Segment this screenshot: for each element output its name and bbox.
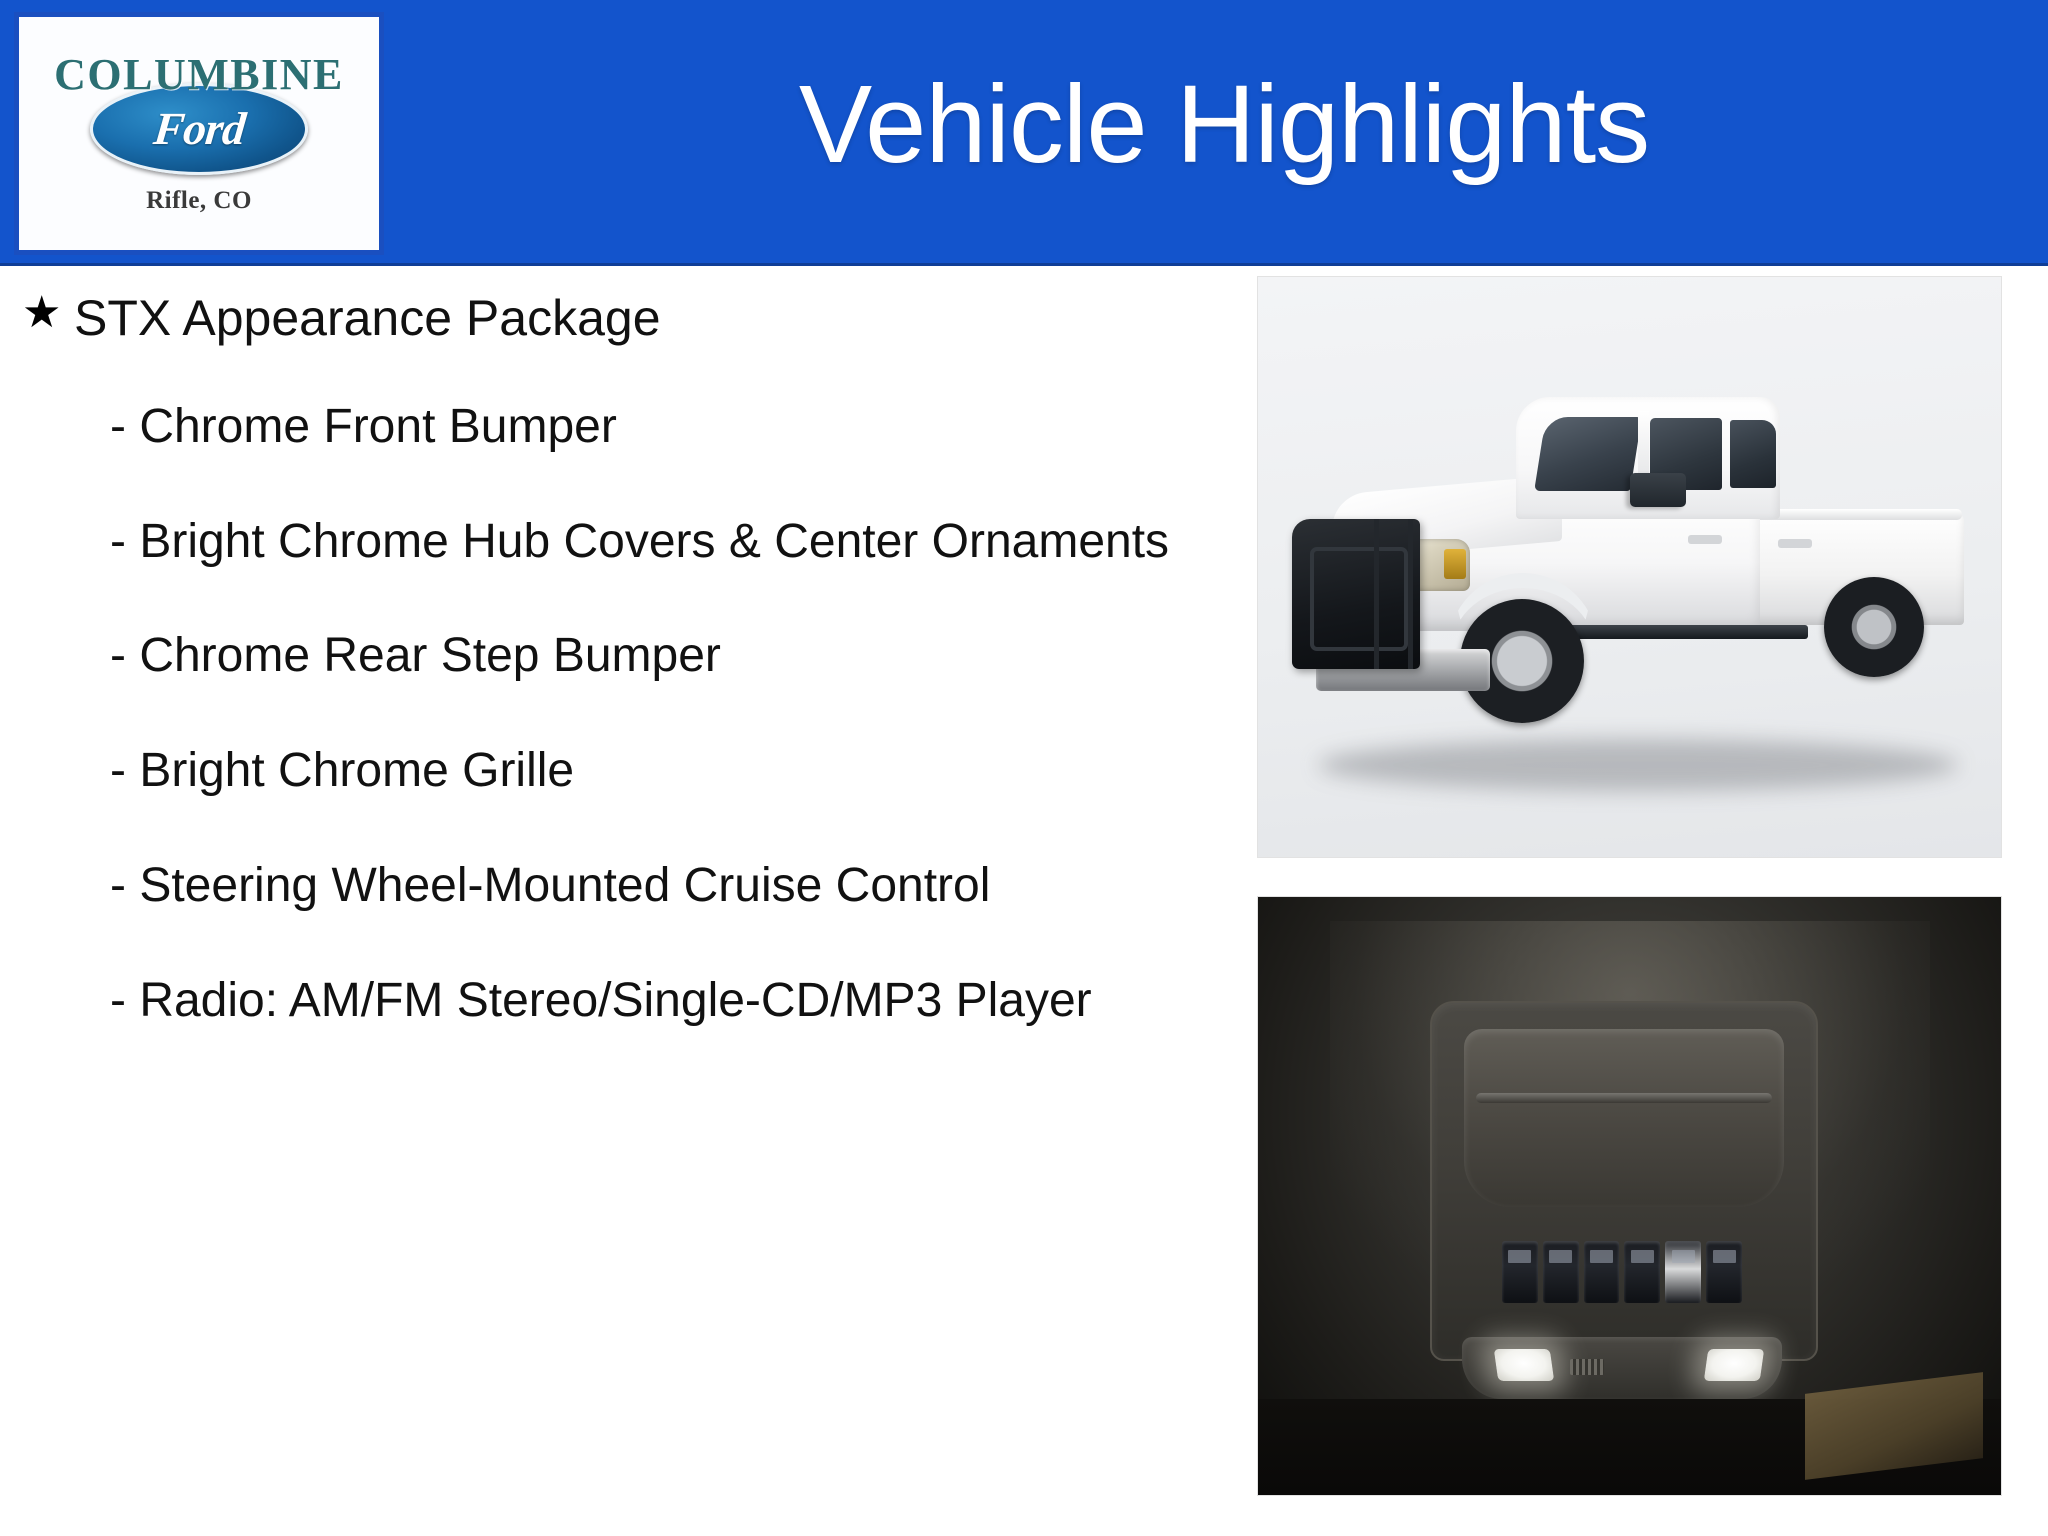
- list-item: - Chrome Rear Step Bumper: [110, 629, 1200, 684]
- truck-illustration: [1258, 277, 2001, 857]
- page-title: Vehicle Highlights: [400, 0, 2048, 263]
- ford-wordmark: Ford: [151, 102, 247, 155]
- dealer-name-text: COLUMBINE: [54, 53, 344, 97]
- aux-switch-bank: [1502, 1241, 1742, 1303]
- list-item: - Radio: AM/FM Stereo/Single-CD/MP3 Play…: [110, 974, 1200, 1029]
- console-illustration: [1258, 897, 2001, 1495]
- list-item: - Bright Chrome Hub Covers & Center Orna…: [110, 515, 1200, 570]
- list-item: - Bright Chrome Grille: [110, 744, 1200, 799]
- dome-light-left: [1494, 1349, 1554, 1381]
- list-item-main: ★ STX Appearance Package: [22, 290, 1205, 346]
- overhead-console-photo: [1257, 896, 2002, 1496]
- photo-column: [1245, 266, 2048, 1536]
- slide-body: ★ STX Appearance Package - Chrome Front …: [0, 266, 2048, 1536]
- main-bullet-label: STX Appearance Package: [74, 290, 1205, 346]
- sub-highlights-list: - Chrome Front Bumper - Bright Chrome Hu…: [22, 400, 1205, 1028]
- header-banner: COLUMBINE Ford Rifle, CO Vehicle Highlig…: [0, 0, 2048, 266]
- dealer-location-text: Rifle, CO: [146, 187, 252, 215]
- highlights-list: ★ STX Appearance Package - Chrome Front …: [0, 266, 1225, 1536]
- list-item: - Steering Wheel-Mounted Cruise Control: [110, 859, 1200, 914]
- dome-light-right: [1704, 1349, 1764, 1381]
- list-item: - Chrome Front Bumper: [110, 400, 1200, 455]
- truck-exterior-photo: [1257, 276, 2002, 858]
- dealer-logo: COLUMBINE Ford Rifle, CO: [14, 12, 384, 255]
- star-bullet-icon: ★: [22, 290, 74, 336]
